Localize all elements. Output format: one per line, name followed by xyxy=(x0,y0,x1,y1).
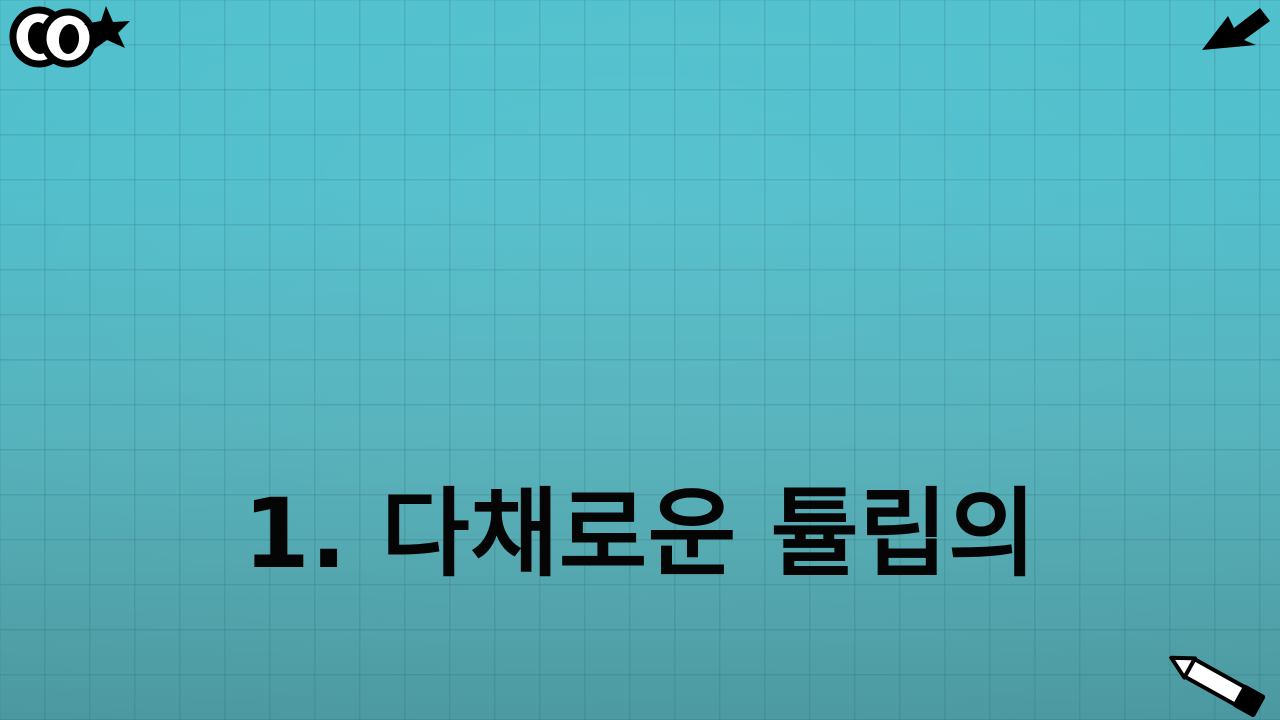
headline-line-1: 1. 다채로운 튤립의 xyxy=(0,474,1280,595)
title-slide: 1. 다채로운 튤립의 향연, 파주 벽초지수목원 xyxy=(0,0,1280,720)
page-title: 1. 다채로운 튤립의 향연, 파주 벽초지수목원 xyxy=(0,232,1280,720)
